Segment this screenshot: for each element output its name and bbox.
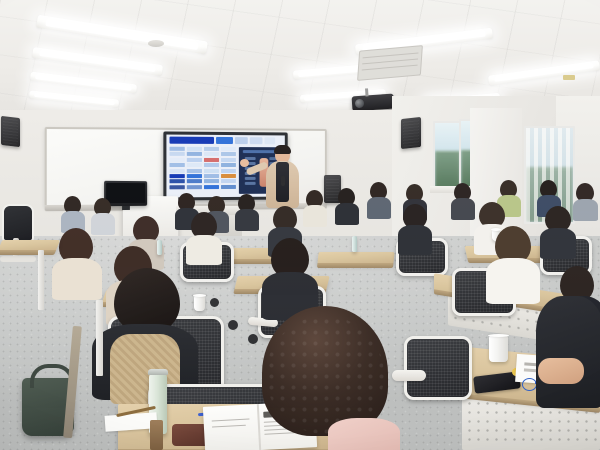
presenter-hair — [274, 145, 291, 154]
forearm — [538, 358, 584, 384]
chair-armrest — [392, 370, 426, 381]
attendee — [574, 183, 598, 217]
chair-caster — [210, 298, 219, 307]
water-bottle — [352, 236, 357, 252]
attendee — [92, 198, 114, 232]
attendee — [262, 238, 316, 312]
ceiling-sign — [563, 75, 575, 80]
task-chair[interactable] — [404, 336, 472, 400]
chair-caster — [248, 334, 258, 344]
ceiling-vent — [357, 45, 423, 81]
attendee — [452, 183, 474, 217]
attendee — [186, 212, 220, 260]
wall-speaker-left — [1, 116, 20, 147]
microphone-icon — [281, 176, 285, 186]
desk-leg — [96, 300, 103, 376]
attendee — [304, 190, 326, 224]
presenter-hand — [240, 159, 249, 167]
chair-caster — [228, 320, 238, 330]
leather-strap — [150, 420, 163, 450]
classroom-photo — [0, 0, 600, 450]
attendee — [62, 196, 84, 230]
attendee-front-center — [262, 306, 388, 450]
student-desk — [317, 252, 394, 264]
attendee — [486, 226, 538, 298]
attendee — [336, 188, 358, 222]
curly-texture — [266, 316, 384, 434]
office-chair-left[interactable] — [2, 204, 34, 242]
desk-leg — [38, 250, 44, 310]
attendee-front-right — [536, 296, 600, 406]
attendee-front-left — [92, 268, 196, 396]
wall-speaker-right — [401, 117, 421, 149]
floral-top — [328, 418, 400, 450]
attendee — [540, 206, 574, 254]
presenter — [262, 146, 302, 208]
chair-base — [0, 256, 36, 262]
smoke-detector-icon — [148, 40, 164, 47]
paper-cup — [489, 336, 508, 362]
attendee — [236, 194, 258, 228]
projector-icon — [352, 94, 395, 112]
slide-diagram-grid — [170, 147, 236, 195]
slide-header-tabs — [170, 137, 282, 145]
window-pane-1 — [433, 121, 462, 191]
student-desk — [0, 240, 60, 251]
attendee — [398, 204, 430, 250]
attendee — [368, 182, 390, 216]
